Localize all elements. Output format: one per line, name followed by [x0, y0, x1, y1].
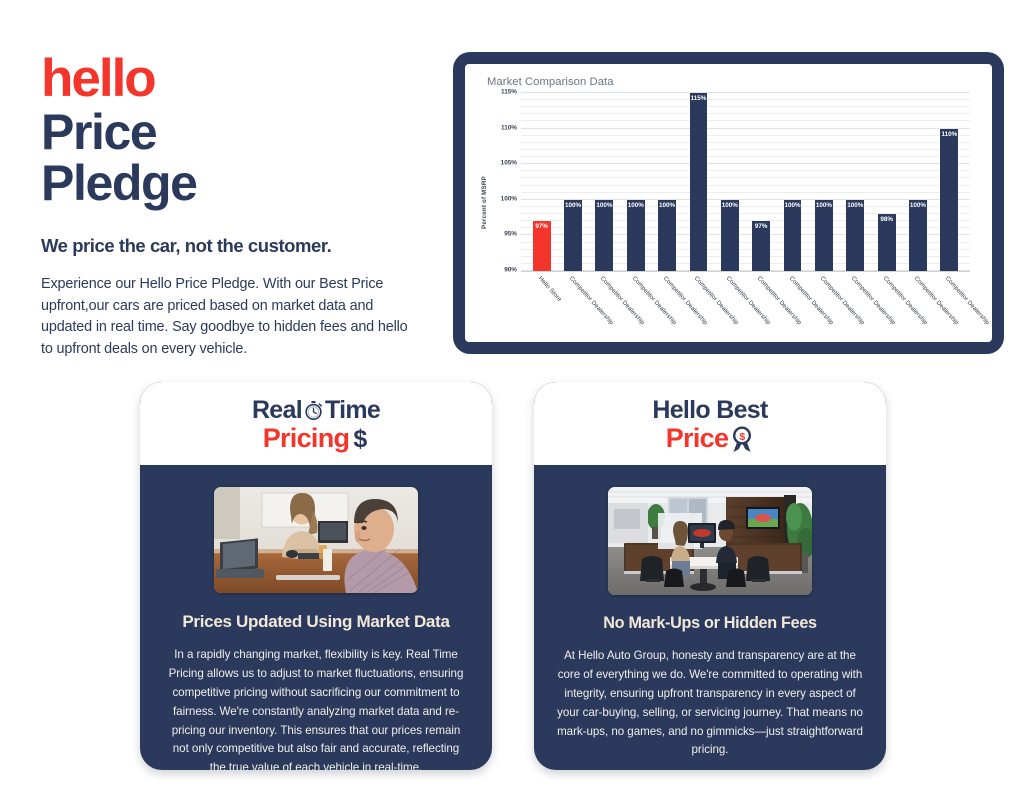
chart-bar-slot[interactable]: 100% — [557, 93, 588, 271]
y-axis-tick: 115% — [501, 89, 517, 96]
chart-bar[interactable]: 100% — [815, 200, 833, 271]
chart-bar[interactable]: 110% — [940, 129, 958, 271]
chart-bar-slot[interactable]: 100% — [651, 93, 682, 271]
card-header-line1: Hello Best — [652, 397, 767, 424]
x-axis-tick-slot: Competitor Dealership — [934, 273, 965, 328]
svg-text:$: $ — [354, 426, 368, 452]
chart-bar-slot[interactable]: 115% — [683, 93, 714, 271]
svg-text:$: $ — [740, 431, 746, 443]
chart-bars: 97%100%100%100%100%115%100%97%100%100%10… — [521, 93, 970, 271]
showroom-photo — [608, 487, 812, 595]
x-axis-tick-slot: Competitor Dealership — [683, 273, 714, 328]
chart-bar-value-label: 100% — [847, 202, 863, 209]
chart-panel: Market Comparison Data Percent of MSRP 9… — [465, 64, 992, 342]
chart-bar-value-label: 100% — [628, 202, 644, 209]
chart-bar-value-label: 100% — [659, 202, 675, 209]
chart-bar-slot[interactable]: 110% — [934, 93, 965, 271]
chart-bar-value-label: 98% — [880, 216, 893, 223]
x-axis-tick-slot: Competitor Dealership — [557, 273, 588, 328]
chart-plot-area: 90%95%100%105%110%115% 97%100%100%100%10… — [521, 93, 970, 271]
card-body-text: At Hello Auto Group, honesty and transpa… — [534, 647, 886, 760]
chart-bar[interactable]: 97% — [533, 221, 551, 271]
y-axis-tick: 110% — [501, 124, 517, 131]
chart-bar-slot[interactable]: 100% — [902, 93, 933, 271]
x-axis-tick-labels: Hello StoreCompetitor DealershipCompetit… — [521, 273, 970, 328]
chart-bar-value-label: 115% — [691, 95, 707, 102]
chart-bar-value-label: 100% — [596, 202, 612, 209]
x-axis-tick-slot: Competitor Dealership — [871, 273, 902, 328]
card-photo — [608, 487, 812, 595]
card-header: Real Time Pricing $ — [140, 382, 492, 465]
y-axis-tick: 105% — [501, 160, 517, 167]
chart-bar[interactable]: 100% — [595, 200, 613, 271]
x-axis-tick-slot: Hello Store — [526, 273, 557, 328]
chart-bar-slot[interactable]: 97% — [746, 93, 777, 271]
chart-bar[interactable]: 98% — [878, 214, 896, 271]
award-ribbon-dollar-icon: $ — [730, 425, 754, 453]
hero-section: hello Price Pledge We price the car, not… — [41, 52, 421, 360]
card-header-word-real: Real — [252, 397, 302, 424]
chart-bar-value-label: 97% — [535, 223, 548, 230]
chart-bar-slot[interactable]: 97% — [526, 93, 557, 271]
chart-bar-value-label: 100% — [784, 202, 800, 209]
chart-bar-slot[interactable]: 100% — [620, 93, 651, 271]
card-header-word-price: Price — [666, 424, 729, 453]
x-axis-line — [521, 271, 970, 272]
y-axis-tick: 95% — [504, 231, 517, 238]
dollar-sign-icon: $ — [351, 426, 369, 452]
chart-bar-slot[interactable]: 100% — [777, 93, 808, 271]
office-meeting-photo — [214, 487, 418, 593]
page-root: hello Price Pledge We price the car, not… — [0, 0, 1024, 804]
card-header-word-pricing: Pricing — [263, 424, 350, 453]
y-axis-tick: 100% — [501, 195, 517, 202]
card-header-line2: Pricing $ — [263, 424, 370, 453]
x-axis-tick-slot: Competitor Dealership — [808, 273, 839, 328]
chart-bar[interactable]: 100% — [658, 200, 676, 271]
x-axis-tick-slot: Competitor Dealership — [746, 273, 777, 328]
x-axis-tick-slot: Competitor Dealership — [620, 273, 651, 328]
chart-bar[interactable]: 100% — [784, 200, 802, 271]
chart-plot-wrapper: Percent of MSRP 90%95%100%105%110%115% 9… — [477, 91, 978, 326]
x-axis-tick-slot: Competitor Dealership — [902, 273, 933, 328]
chart-bar[interactable]: 100% — [721, 200, 739, 271]
chart-bar[interactable]: 100% — [846, 200, 864, 271]
y-axis-label: Percent of MSRP — [479, 143, 490, 263]
chart-bar-value-label: 100% — [722, 202, 738, 209]
x-axis-tick-slot: Competitor Dealership — [651, 273, 682, 328]
chart-bar-value-label: 97% — [755, 223, 768, 230]
x-axis-tick-slot: Competitor Dealership — [777, 273, 808, 328]
chart-panel-frame: Market Comparison Data Percent of MSRP 9… — [453, 52, 1004, 354]
chart-bar-slot[interactable]: 100% — [589, 93, 620, 271]
card-header-line1: Real Time — [252, 397, 380, 424]
card-body-text: In a rapidly changing market, flexibilit… — [140, 646, 492, 770]
chart-bar-slot[interactable]: 100% — [840, 93, 871, 271]
chart-bar[interactable]: 100% — [627, 200, 645, 271]
card-heading: No Mark-Ups or Hidden Fees — [534, 614, 886, 633]
chart-bar-value-label: 100% — [816, 202, 832, 209]
chart-bar-slot[interactable]: 100% — [808, 93, 839, 271]
x-axis-tick-label: Competitor Dealership — [944, 275, 991, 326]
chart-bar-value-label: 110% — [941, 131, 957, 138]
y-axis-tick: 90% — [504, 267, 517, 274]
x-axis-tick-slot: Competitor Dealership — [589, 273, 620, 328]
x-axis-tick-slot: Competitor Dealership — [840, 273, 871, 328]
chart-bar[interactable]: 115% — [690, 93, 708, 271]
chart-bar-value-label: 100% — [565, 202, 581, 209]
stopwatch-icon — [303, 400, 324, 421]
page-title-line1: Price — [41, 107, 421, 158]
chart-title: Market Comparison Data — [487, 76, 978, 88]
card-real-time-pricing[interactable]: Real Time Pricing $ — [140, 382, 492, 770]
card-header: Hello Best Price $ — [534, 382, 886, 465]
hero-subheading: We price the car, not the customer. — [41, 235, 421, 257]
card-hello-best-price[interactable]: Hello Best Price $ — [534, 382, 886, 770]
card-header-line2: Price $ — [666, 424, 755, 453]
card-photo — [214, 487, 418, 593]
x-axis-tick-slot: Competitor Dealership — [714, 273, 745, 328]
chart-bar-slot[interactable]: 98% — [871, 93, 902, 271]
card-header-text: Hello Best — [652, 397, 767, 424]
chart-bar-slot[interactable]: 100% — [714, 93, 745, 271]
page-title-line2: Pledge — [41, 158, 421, 209]
hero-body-text: Experience our Hello Price Pledge. With … — [41, 274, 421, 360]
chart-bar[interactable]: 97% — [752, 221, 770, 271]
chart-bar[interactable]: 100% — [564, 200, 582, 271]
card-heading: Prices Updated Using Market Data — [140, 612, 492, 632]
chart-bar-value-label: 100% — [910, 202, 926, 209]
chart-bar[interactable]: 100% — [909, 200, 927, 271]
hello-logo: hello — [41, 52, 421, 105]
card-header-word-time: Time — [325, 397, 380, 424]
